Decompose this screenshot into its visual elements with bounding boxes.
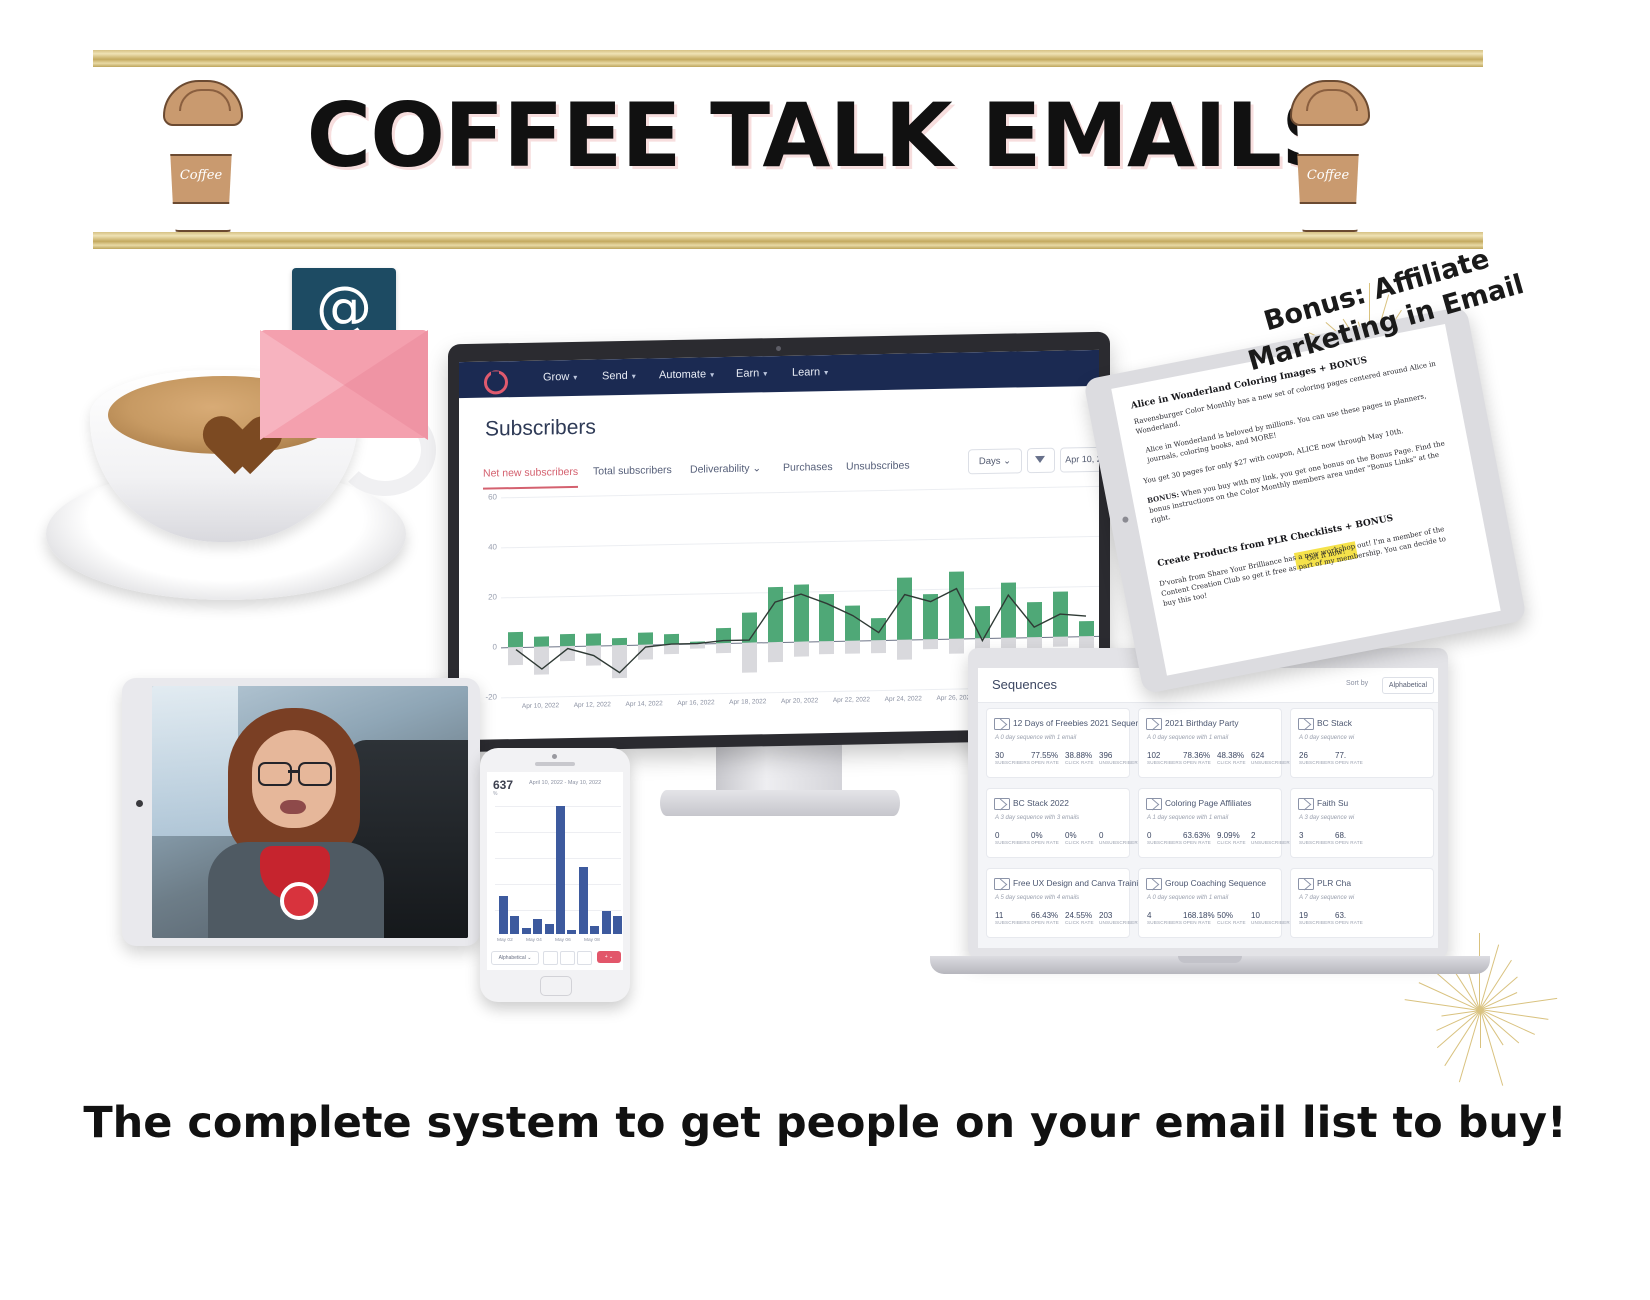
sequence-stat-label: UNSUBSCRIBERS [1099,920,1141,925]
sequence-card-title: 12 Days of Freebies 2021 Sequence [1013,718,1149,728]
sort-by-select[interactable]: Alphabetical [1382,677,1434,694]
sequence-stat: 19SUBSCRIBERS [1299,911,1334,925]
sequence-stat: 0%CLICK RATE [1065,831,1094,845]
sequence-stat: 24.55%CLICK RATE [1065,911,1094,925]
phone-chart-bar[interactable] [533,919,542,934]
subscribers-page-title: Subscribers [485,416,596,442]
sequence-stat: 63.63%OPEN RATE [1183,831,1211,845]
tab-deliverability[interactable]: Deliverability ⌄ [690,462,761,475]
phone-camera [552,754,557,759]
phone-date-range[interactable]: April 10, 2022 - May 10, 2022 [529,780,601,786]
sequence-stat-value: 19 [1299,911,1334,920]
sequence-stat: 102SUBSCRIBERS [1147,751,1182,765]
chart-x-tick: Apr 14, 2022 [626,700,663,708]
phone-toolbar: Alphabetical ⌄ + ⌄ [491,950,619,964]
tablet-camera [136,800,143,807]
sequence-stat-value: 0% [1031,831,1059,840]
sequence-stat: 396UNSUBSCRIBERS [1099,751,1141,765]
sort-by-label: Sort by [1346,680,1368,687]
sequence-stat-value: 30 [995,751,1030,760]
sequence-stat: 50%CLICK RATE [1217,911,1246,925]
sequence-stat-label: SUBSCRIBERS [995,760,1030,765]
phone-chart-bar[interactable] [579,867,588,934]
sequence-stat-value: 10 [1251,911,1293,920]
phone-chart-bar[interactable] [567,930,576,934]
sequence-card-description: A 0 day sequence wi [1299,735,1354,741]
sequence-stat: 0UNSUBSCRIBERS [1099,831,1141,845]
tab-purchases[interactable]: Purchases [783,461,833,474]
page-title: COFFEE TALK EMAILS [0,92,1650,180]
sequence-stat: 48.38%CLICK RATE [1217,751,1246,765]
envelope-icon [994,878,1010,890]
sequence-stat: 77.OPEN RATE [1335,751,1363,765]
sequence-stat: 77.55%OPEN RATE [1031,751,1059,765]
email-envelope-icon: @ [260,268,428,440]
glasses-right-lens [298,762,332,786]
tagline: The complete system to get people on you… [0,1098,1650,1148]
sequence-card-description: A 3 day sequence with 3 emails [995,815,1079,821]
chart-x-tick: Apr 18, 2022 [729,698,766,706]
gold-divider-top [93,50,1483,67]
sequence-stat-value: 2 [1251,831,1293,840]
sequence-stat-label: SUBSCRIBERS [1147,920,1182,925]
cup-sleeve-label: Coffee [1296,168,1360,183]
sequence-card[interactable]: BC StackA 0 day sequence wi26SUBSCRIBERS… [1290,708,1434,778]
sequence-stat-label: SUBSCRIBERS [1147,840,1182,845]
chart-y-tick: 60 [475,492,497,501]
nav-item-earn[interactable]: Earn▾ [736,367,767,380]
sequence-stat-value: 11 [995,911,1030,920]
envelope-icon [994,798,1010,810]
sequence-stat-label: SUBSCRIBERS [995,840,1030,845]
sequence-stat: 11SUBSCRIBERS [995,911,1030,925]
envelope-icon [1146,878,1162,890]
envelope-flap-left [260,330,344,440]
sequence-stat-value: 0 [1147,831,1182,840]
nav-item-send[interactable]: Send▾ [602,370,636,383]
gold-divider-bottom [93,232,1483,249]
monitor-camera [776,346,781,351]
envelope-icon [994,718,1010,730]
sequence-stat-value: 3 [1299,831,1334,840]
glasses-bridge [288,770,298,773]
calendar-icon[interactable] [577,951,592,965]
sequence-card[interactable]: 2021 Birthday PartyA 0 day sequence with… [1138,708,1282,778]
sequence-card-title: Free UX Design and Canva Training [1013,878,1148,888]
grid-view-icon[interactable] [560,951,575,965]
phone-sort-select[interactable]: Alphabetical ⌄ [491,951,539,965]
header-banner: Coffee COFFEE TALK EMAILS Coffee [0,0,1650,270]
sequence-card-title: PLR Cha [1317,878,1351,888]
sequence-stat-value: 4 [1147,911,1182,920]
latte-art-heart [188,392,260,454]
sequence-stat-label: OPEN RATE [1031,760,1059,765]
sequence-stat: 0%OPEN RATE [1031,831,1059,845]
sequence-stat: 63.OPEN RATE [1335,911,1363,925]
sequence-card[interactable]: Group Coaching SequenceA 0 day sequence … [1138,868,1282,938]
sequence-stat: 2UNSUBSCRIBERS [1251,831,1293,845]
sequence-stat-value: 63.63% [1183,831,1211,840]
phone-home-button[interactable] [540,976,572,996]
sequence-card-description: A 0 day sequence with 1 email [995,735,1076,741]
sequence-card[interactable]: BC Stack 2022A 3 day sequence with 3 ema… [986,788,1130,858]
sequence-stat: 0SUBSCRIBERS [995,831,1030,845]
envelope-icon [1146,798,1162,810]
sequence-stat: 624UNSUBSCRIBERS [1251,751,1293,765]
phone-chart-x-tick: May 06 [555,938,571,943]
sequence-card-title: Group Coaching Sequence [1165,878,1266,888]
sequence-stat-label: CLICK RATE [1065,920,1094,925]
sequences-title: Sequences [992,677,1057,692]
sequence-stat-value: 63. [1335,911,1363,920]
envelope-flap-right [344,330,428,440]
sequence-stat: 203UNSUBSCRIBERS [1099,911,1141,925]
sequence-stat-value: 66.43% [1031,911,1059,920]
phone-chart-bar[interactable] [602,911,611,934]
phone-device: 637 % April 10, 2022 - May 10, 2022 Alph… [480,748,630,1002]
sequence-stat-value: 0% [1065,831,1094,840]
sequence-stat: 38.88%CLICK RATE [1065,751,1094,765]
sequence-card-description: A 3 day sequence wi [1299,815,1354,821]
sequence-card-description: A 0 day sequence with 1 email [1147,735,1228,741]
sequence-stat: 3SUBSCRIBERS [1299,831,1334,845]
sequence-stat: 30SUBSCRIBERS [995,751,1030,765]
sequence-stat-label: UNSUBSCRIBERS [1251,760,1293,765]
chart-x-tick: Apr 24, 2022 [885,695,922,703]
sequence-card-description: A 5 day sequence with 4 emails [995,895,1079,901]
sequence-card[interactable]: PLR ChaA 7 day sequence wi19SUBSCRIBERS6… [1290,868,1434,938]
granularity-select[interactable]: Days ⌄ [968,448,1022,474]
tab-unsubscribes[interactable]: Unsubscribes [846,459,910,472]
sequence-stat-label: CLICK RATE [1217,840,1246,845]
cup-sleeve: Coffee [1296,154,1360,204]
sequence-card-description: A 0 day sequence with 1 email [1147,895,1228,901]
tablet-camera [1122,516,1129,523]
chart-y-tick: 0 [475,642,497,651]
window-light [152,686,238,836]
phone-chart-bar[interactable] [499,896,508,934]
sequence-stat-label: CLICK RATE [1217,920,1246,925]
tab-net-new-subscribers[interactable]: Net new subscribers [483,466,578,480]
sequence-stat-value: 168.18% [1183,911,1215,920]
sequence-card-title: BC Stack 2022 [1013,798,1069,808]
sequence-stat-value: 624 [1251,751,1293,760]
nav-item-automate[interactable]: Automate▾ [659,368,714,381]
sequence-stat-value: 0 [995,831,1030,840]
chart-x-tick: Apr 12, 2022 [574,701,611,709]
phone-screen: 637 % April 10, 2022 - May 10, 2022 Alph… [487,772,623,970]
phone-chart-bar[interactable] [522,928,531,934]
envelope-icon [1298,718,1314,730]
sequence-stat-value: 78.36% [1183,751,1211,760]
sequence-card-description: A 1 day sequence with 1 email [1147,815,1228,821]
tablet-video-player [122,678,480,946]
envelope-icon [1298,798,1314,810]
sequence-card[interactable]: Faith SuA 3 day sequence wi3SUBSCRIBERS6… [1290,788,1434,858]
sequence-card[interactable]: Free UX Design and Canva TrainingA 5 day… [986,868,1130,938]
sequence-stat-label: OPEN RATE [1031,840,1059,845]
sequence-stat: 66.43%OPEN RATE [1031,911,1059,925]
nav-item-grow[interactable]: Grow▾ [543,371,577,384]
sequence-stat-label: UNSUBSCRIBERS [1099,760,1141,765]
sequence-stat-value: 77.55% [1031,751,1059,760]
sequence-stat-value: 68. [1335,831,1363,840]
convertkit-logo-icon[interactable] [484,370,508,394]
sequence-stat: 4SUBSCRIBERS [1147,911,1182,925]
sequence-stat-value: 0 [1099,831,1141,840]
phone-chart-bar[interactable] [545,924,554,934]
sequence-card-title: Faith Su [1317,798,1348,808]
envelope-icon [1298,878,1314,890]
presenter-mouth [280,800,306,814]
phone-count-sublabel: % [493,791,497,797]
sequence-stat-label: OPEN RATE [1335,840,1363,845]
sequence-stat: 168.18%OPEN RATE [1183,911,1215,925]
sequence-stat-label: OPEN RATE [1335,920,1363,925]
phone-chart [495,806,621,934]
sequence-stat: 78.36%OPEN RATE [1183,751,1211,765]
sequence-stat-label: OPEN RATE [1031,920,1059,925]
sequence-card-title: BC Stack [1317,718,1352,728]
sequence-stat: 0SUBSCRIBERS [1147,831,1182,845]
sequence-card[interactable]: 12 Days of Freebies 2021 SequenceA 0 day… [986,708,1130,778]
coffee-cup-icon-right: Coffee [1282,80,1374,230]
sequence-stat: 68.OPEN RATE [1335,831,1363,845]
sequence-card-description: A 7 day sequence wi [1299,895,1354,901]
chart-x-tick: Apr 22, 2022 [833,696,870,704]
sequence-stat-value: 396 [1099,751,1141,760]
sequence-stat: 26SUBSCRIBERS [1299,751,1334,765]
phone-chart-bar[interactable] [613,916,622,934]
sequence-stat-label: OPEN RATE [1183,840,1211,845]
sequence-stat-label: UNSUBSCRIBERS [1251,840,1293,845]
list-view-icon[interactable] [543,951,558,965]
sequence-stat-value: 48.38% [1217,751,1246,760]
glasses-left-lens [258,762,292,786]
monitor-stand-neck [716,738,842,798]
laptop-device: Sequences Sort by Alphabetical 12 Days o… [930,648,1490,988]
sequence-stat-label: SUBSCRIBERS [1299,760,1334,765]
sequence-stat-label: CLICK RATE [1065,840,1094,845]
tablet-screen [152,686,468,938]
phone-chart-bar[interactable] [590,926,599,934]
sequence-stat-value: 50% [1217,911,1246,920]
chart-y-tick: 20 [475,592,497,601]
laptop-screen: Sequences Sort by Alphabetical 12 Days o… [978,668,1438,948]
chart-y-tick: 40 [475,542,497,551]
monitor-stand-base [660,790,900,816]
phone-subscriber-count: 637 [493,778,513,792]
sequence-stat: 9.09%CLICK RATE [1217,831,1246,845]
cup-lid [1290,80,1370,126]
laptop-notch [1178,956,1242,963]
sequence-stat-label: SUBSCRIBERS [1147,760,1182,765]
sequence-stat-value: 38.88% [1065,751,1094,760]
sequence-stat-label: UNSUBSCRIBERS [1099,840,1141,845]
tab-active-underline [483,486,578,490]
sequence-card-title: Coloring Page Affiliates [1165,798,1251,808]
necklace-pendant [280,882,318,920]
phone-chart-x-tick: May 04 [526,938,542,943]
phone-speaker [535,762,575,766]
sequence-card[interactable]: Coloring Page AffiliatesA 1 day sequence… [1138,788,1282,858]
phone-add-button[interactable]: + ⌄ [597,951,621,963]
phone-chart-x-tick: May 02 [497,938,513,943]
tab-total-subscribers[interactable]: Total subscribers [593,464,672,478]
sequence-stat-value: 102 [1147,751,1182,760]
sequence-stat-label: UNSUBSCRIBERS [1251,920,1293,925]
sequence-stat-value: 9.09% [1217,831,1246,840]
sequence-stat-label: CLICK RATE [1065,760,1094,765]
sequence-card-title: 2021 Birthday Party [1165,718,1239,728]
date-range-picker[interactable]: Apr 10, 2022 [1060,446,1099,472]
chart-x-tick: Apr 16, 2022 [677,699,714,707]
sequence-stat-label: OPEN RATE [1183,760,1211,765]
envelope-icon [1146,718,1162,730]
phone-chart-bar[interactable] [556,806,565,934]
sequence-stat-value: 203 [1099,911,1141,920]
sequence-stat-value: 77. [1335,751,1363,760]
chart-x-tick: Apr 10, 2022 [522,702,559,710]
sequence-stat: 10UNSUBSCRIBERS [1251,911,1293,925]
phone-chart-x-tick: May 08 [584,938,600,943]
sequence-stat-label: SUBSCRIBERS [995,920,1030,925]
sequence-stat-value: 24.55% [1065,911,1094,920]
filter-icon[interactable] [1027,448,1055,474]
sequence-stat-label: CLICK RATE [1217,760,1246,765]
nav-item-learn[interactable]: Learn▾ [792,366,828,379]
sequence-stat-label: SUBSCRIBERS [1299,840,1334,845]
chart-x-tick: Apr 20, 2022 [781,697,818,705]
sequence-stat-label: OPEN RATE [1183,920,1215,925]
sequence-stat-value: 26 [1299,751,1334,760]
at-symbol-icon: @ [292,280,396,336]
phone-chart-bar[interactable] [510,916,519,934]
sequence-stat-label: OPEN RATE [1335,760,1363,765]
sequence-stat-label: SUBSCRIBERS [1299,920,1334,925]
